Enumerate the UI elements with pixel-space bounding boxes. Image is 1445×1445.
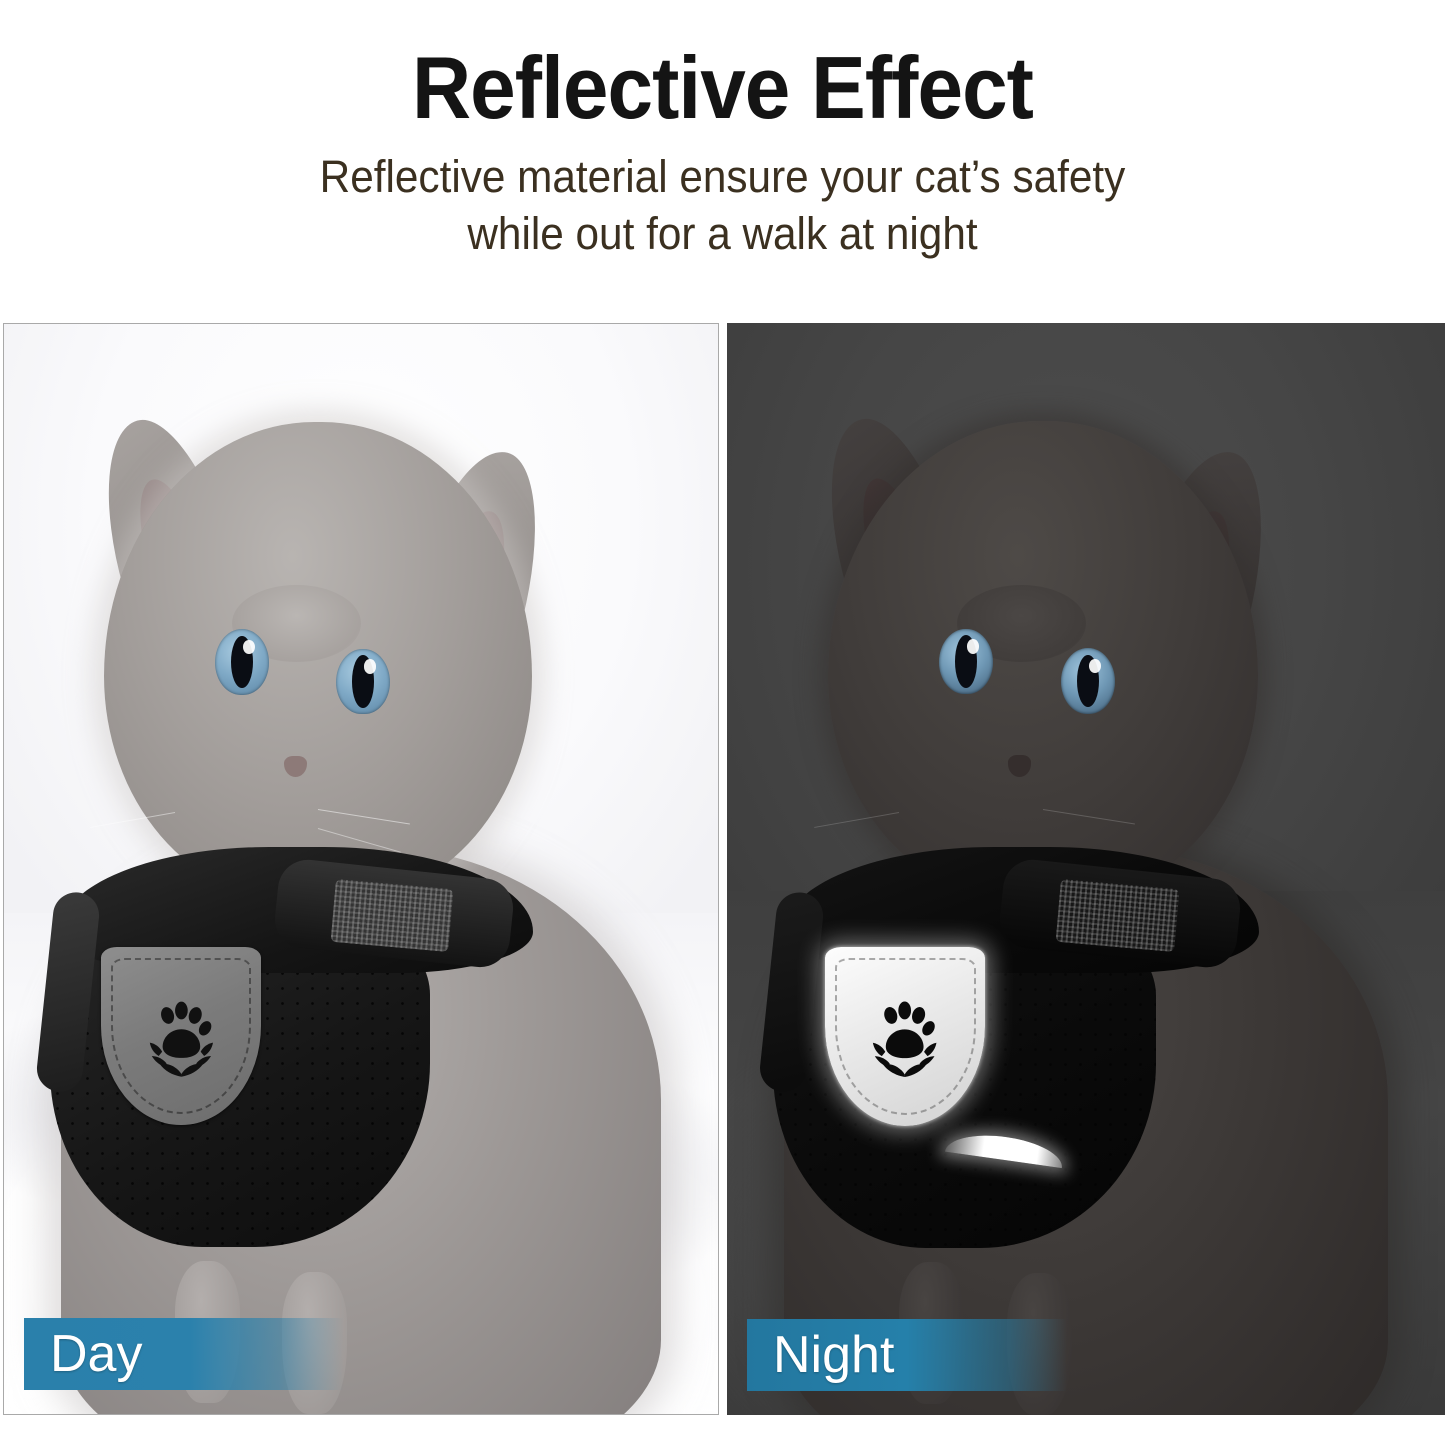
- kitten-eye-glint: [243, 640, 255, 654]
- kitten-head: [104, 422, 532, 902]
- header-block: Reflective Effect Reflective material en…: [0, 0, 1445, 263]
- kitten-eye-glint: [1089, 659, 1101, 673]
- day-caption-label: Day: [50, 1328, 142, 1380]
- harness-velcro-patch: [1055, 879, 1179, 952]
- subtitle-line-1: Reflective material ensure your cat’s sa…: [43, 148, 1401, 206]
- night-scene-photo: [727, 323, 1445, 1415]
- page-subtitle: Reflective material ensure your cat’s sa…: [43, 148, 1401, 263]
- night-caption-label: Night: [773, 1329, 894, 1381]
- harness-night: [763, 847, 1280, 1218]
- kitten-eye-right: [1061, 648, 1116, 714]
- kitten-eye-right: [336, 649, 390, 714]
- subtitle-line-2: while out for a walk at night: [43, 205, 1401, 263]
- kitten-eye-glint: [967, 639, 979, 653]
- day-caption-badge: Day: [24, 1318, 344, 1390]
- night-caption-badge: Night: [747, 1319, 1067, 1391]
- kitten-eye-left: [939, 629, 994, 695]
- day-scene-photo: [4, 324, 718, 1414]
- page-title: Reflective Effect: [51, 42, 1395, 134]
- harness-day: [40, 847, 554, 1218]
- kitten-eye-left: [215, 629, 269, 694]
- comparison-panels: Day: [0, 323, 1445, 1419]
- paw-print-with-laurel-wreath-icon: [855, 986, 954, 1096]
- kitten-eye-glint: [364, 659, 376, 673]
- paw-print-with-laurel-wreath-icon: [132, 986, 231, 1096]
- kitten-head: [828, 421, 1259, 901]
- night-panel: Night: [727, 323, 1445, 1415]
- harness-velcro-patch: [330, 879, 453, 952]
- day-panel: Day: [3, 323, 719, 1415]
